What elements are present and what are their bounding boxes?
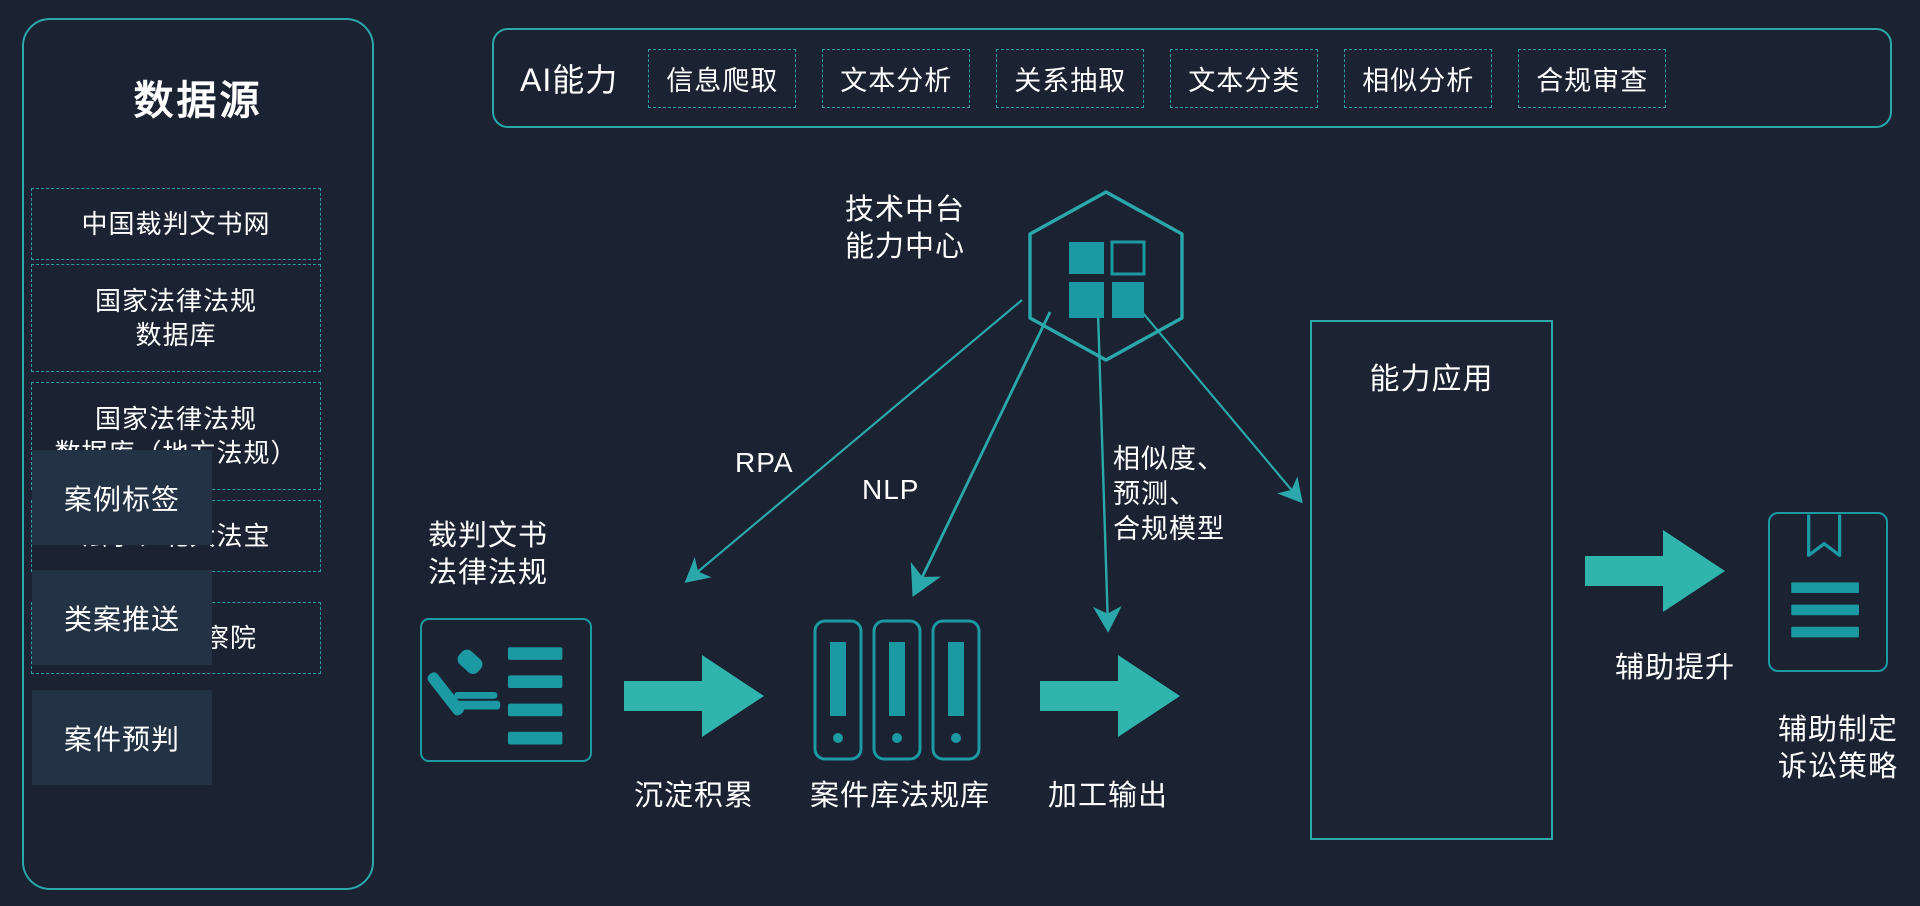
flow-arrow-1-icon bbox=[624, 655, 764, 742]
data-source-title: 数据源 bbox=[24, 68, 372, 126]
ai-chip-similarity[interactable]: 相似分析 bbox=[1344, 49, 1492, 108]
final-output-label: 辅助制定 诉讼策略 bbox=[1758, 712, 1918, 786]
final-output-label-l1: 辅助制定 bbox=[1758, 712, 1918, 749]
judgment-doc-caption-l2: 法律法规 bbox=[428, 555, 548, 592]
bookmark-document-icon bbox=[1768, 512, 1888, 672]
capability-item-case-tag[interactable]: 案例标签 bbox=[32, 450, 212, 545]
diagram-canvas: 数据源 中国裁判文书网 国家法律法规 数据库 国家法律法规 数据库（地方法规） … bbox=[0, 0, 1920, 906]
edge-label-similarity: 相似度、 预测、 合规模型 bbox=[1113, 442, 1225, 547]
capability-application-title: 能力应用 bbox=[1312, 354, 1551, 398]
judgment-doc-caption-l1: 裁判文书 bbox=[428, 518, 548, 555]
caption-case-law-db: 案件库法规库 bbox=[805, 778, 995, 815]
edge-label-nlp: NLP bbox=[862, 472, 919, 508]
gavel-document-icon bbox=[420, 618, 592, 762]
flow-arrow-2-icon bbox=[1040, 655, 1180, 742]
edge-rpa bbox=[688, 300, 1022, 580]
data-source-item-0[interactable]: 中国裁判文书网 bbox=[31, 188, 321, 260]
edge-label-similarity-l2: 预测、 bbox=[1113, 477, 1225, 512]
edge-label-similarity-l3: 合规模型 bbox=[1113, 512, 1225, 547]
hub-label: 技术中台 能力中心 bbox=[845, 192, 965, 266]
capability-application-panel: 能力应用 bbox=[1310, 320, 1553, 840]
hub-label-line2: 能力中心 bbox=[845, 229, 965, 266]
ai-chip-info-crawl[interactable]: 信息爬取 bbox=[648, 49, 796, 108]
data-source-item-label: 中国裁判文书网 bbox=[81, 207, 270, 241]
caption-accumulate: 沉淀积累 bbox=[618, 778, 770, 815]
hub-label-line1: 技术中台 bbox=[845, 192, 965, 229]
edge-label-similarity-l1: 相似度、 bbox=[1113, 442, 1225, 477]
assist-arrow-icon bbox=[1585, 530, 1725, 617]
judgment-doc-caption: 裁判文书 法律法规 bbox=[428, 518, 548, 592]
caption-process-output: 加工输出 bbox=[1032, 778, 1184, 815]
edge-label-rpa: RPA bbox=[735, 445, 794, 481]
assist-label: 辅助提升 bbox=[1595, 650, 1755, 687]
ai-chip-text-classify[interactable]: 文本分类 bbox=[1170, 49, 1318, 108]
capability-item-case-push[interactable]: 类案推送 bbox=[32, 570, 212, 665]
data-source-item-label: 国家法律法规 数据库 bbox=[95, 284, 257, 353]
data-source-item-1[interactable]: 国家法律法规 数据库 bbox=[31, 264, 321, 372]
ai-capability-title: AI能力 bbox=[520, 55, 618, 101]
final-output-label-l2: 诉讼策略 bbox=[1758, 749, 1918, 786]
server-rack-icon bbox=[812, 618, 982, 762]
ai-chip-relation-extract[interactable]: 关系抽取 bbox=[996, 49, 1144, 108]
capability-item-case-predict[interactable]: 案件预判 bbox=[32, 690, 212, 785]
ai-chip-compliance-audit[interactable]: 合规审查 bbox=[1518, 49, 1666, 108]
ai-chip-text-analysis[interactable]: 文本分析 bbox=[822, 49, 970, 108]
ai-capability-bar: AI能力 信息爬取 文本分析 关系抽取 文本分类 相似分析 合规审查 bbox=[492, 28, 1892, 128]
hexagon-four-squares-icon bbox=[1024, 188, 1188, 364]
